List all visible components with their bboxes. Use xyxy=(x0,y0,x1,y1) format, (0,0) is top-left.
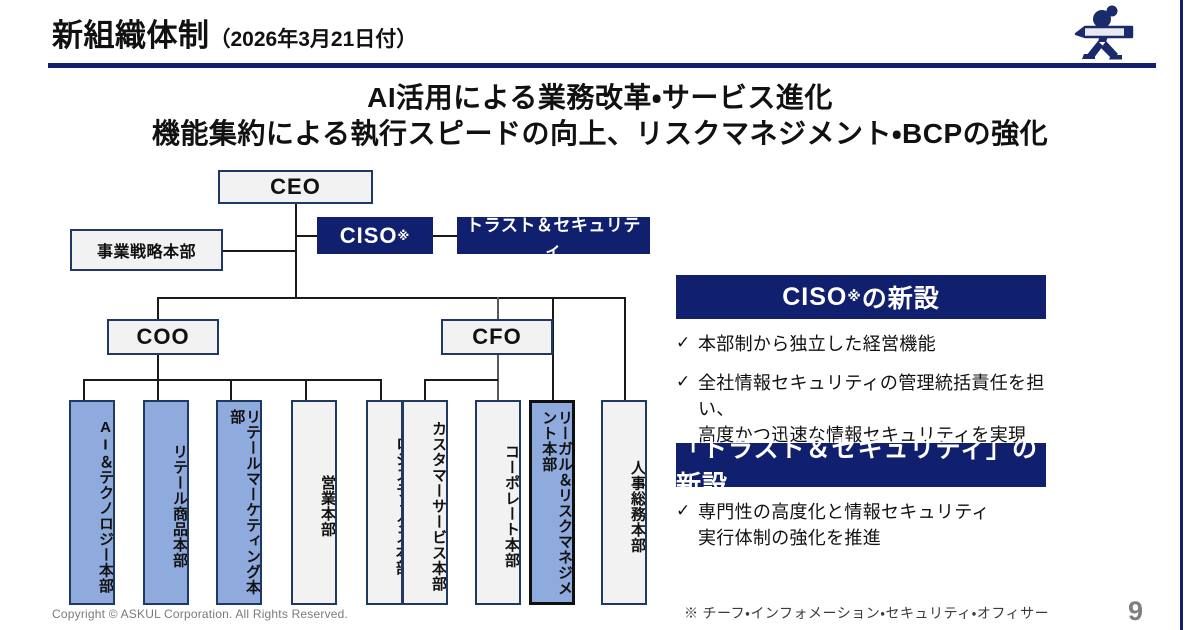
panel-trust-security-heading-text: 「トラスト＆セキュリティ」の新設 xyxy=(676,429,1046,501)
org-node-business-strategy-label: 事業戦略本部 xyxy=(97,238,196,262)
panel-ciso-heading: CISO※の新設 xyxy=(676,275,1046,319)
org-unit-box[interactable]: コーポレート本部 xyxy=(475,400,521,605)
org-node-ciso-label: CISO xyxy=(340,223,398,249)
org-node-cfo-label: CFO xyxy=(472,324,521,350)
panel-ciso-heading-text: CISO xyxy=(782,283,847,312)
right-edge-accent xyxy=(1180,0,1183,630)
page-number: 9 xyxy=(1128,596,1143,627)
org-unit-box[interactable]: リーガル＆リスクマネジメント本部 xyxy=(529,400,575,605)
org-unit-box[interactable]: AI＆テクノロジー本部 xyxy=(69,400,115,605)
connector-coo-down xyxy=(157,354,159,380)
connector-bus-to-cfo xyxy=(497,297,499,319)
connector-cfo-down xyxy=(497,354,499,400)
connector-cfo-bus xyxy=(424,379,498,381)
org-chart: CEO 事業戦略本部 CISO※ トラスト＆セキュリティ COO CFO AI＆… xyxy=(0,0,680,630)
copyright-text: Copyright © ASKUL Corporation. All Right… xyxy=(52,607,348,621)
org-unit-box[interactable]: リテールマーケティング本部 xyxy=(216,400,262,605)
org-node-coo[interactable]: COO xyxy=(107,319,219,355)
org-unit-box[interactable]: 人事総務本部 xyxy=(601,400,647,605)
org-unit-label: 営業本部 xyxy=(319,475,335,537)
connector-ceo-to-ciso xyxy=(295,235,318,237)
org-unit-label: リテールマーケティング本部 xyxy=(229,409,261,603)
org-unit-box[interactable]: カスタマーサービス本部 xyxy=(402,400,448,605)
org-node-business-strategy[interactable]: 事業戦略本部 xyxy=(70,229,223,271)
org-node-trust-security[interactable]: トラスト＆セキュリティ xyxy=(457,217,650,254)
org-node-cfo[interactable]: CFO xyxy=(441,319,553,355)
org-unit-label: 人事総務本部 xyxy=(629,460,645,553)
org-node-trust-security-label: トラスト＆セキュリティ xyxy=(459,211,648,261)
list-item: ✓ 専門性の高度化と情報セキュリティ 実行体制の強化を推進 xyxy=(676,499,1046,551)
panel-trust-security-heading: 「トラスト＆セキュリティ」の新設 xyxy=(676,443,1046,487)
check-icon: ✓ xyxy=(676,331,698,356)
connector-coo-child-2 xyxy=(157,379,159,401)
panel-ciso-heading-tail: の新設 xyxy=(862,279,940,315)
list-item-label: 本部制から独立した経営機能 xyxy=(698,331,936,357)
connector-coo-child-1 xyxy=(83,379,85,401)
panel-ciso-heading-mark: ※ xyxy=(847,289,861,305)
connector-coo-child-4 xyxy=(305,379,307,401)
footnote-text: ※ チーフ・インフォメーション・セキュリティ・オフィサー xyxy=(684,603,1049,623)
connector-cfo-child-1 xyxy=(424,379,426,401)
panel-trust-security: 「トラスト＆セキュリティ」の新設 ✓ 専門性の高度化と情報セキュリティ 実行体制… xyxy=(676,443,1046,564)
connector-bus-to-hr xyxy=(624,297,626,400)
connector-ciso-to-trust xyxy=(432,235,458,237)
org-node-ciso-mark: ※ xyxy=(398,229,411,243)
list-item-label: 専門性の高度化と情報セキュリティ 実行体制の強化を推進 xyxy=(698,499,990,551)
org-unit-label: リーガル＆リスクマネジメント本部 xyxy=(541,410,573,602)
org-unit-label: リテール商品本部 xyxy=(171,444,187,568)
org-unit-label: AI＆テクノロジー本部 xyxy=(97,419,113,594)
connector-coo-bus xyxy=(83,379,381,381)
check-icon: ✓ xyxy=(676,370,698,395)
slide: 新組織体制（2026年3月21日付） xyxy=(0,0,1200,630)
org-node-ciso[interactable]: CISO※ xyxy=(317,217,433,254)
connector-strategy-to-spine xyxy=(222,250,296,252)
askul-running-person-pencil-logo-icon xyxy=(1062,4,1154,60)
org-unit-label: カスタマーサービス本部 xyxy=(430,421,446,592)
org-unit-box[interactable]: リテール商品本部 xyxy=(143,400,189,605)
org-unit-label: コーポレート本部 xyxy=(503,444,519,568)
org-node-ceo[interactable]: CEO xyxy=(218,170,373,204)
connector-coo-child-3 xyxy=(230,379,232,401)
org-node-ceo-label: CEO xyxy=(270,174,321,200)
check-icon: ✓ xyxy=(676,499,698,524)
list-item: ✓ 本部制から独立した経営機能 xyxy=(676,331,1046,357)
connector-main-bus xyxy=(157,297,625,299)
panel-trust-security-bullet-list: ✓ 専門性の高度化と情報セキュリティ 実行体制の強化を推進 xyxy=(676,499,1046,551)
org-node-coo-label: COO xyxy=(136,324,189,350)
org-unit-box[interactable]: 営業本部 xyxy=(291,400,337,605)
connector-coo-child-5 xyxy=(380,379,382,401)
connector-bus-to-coo xyxy=(157,297,159,319)
